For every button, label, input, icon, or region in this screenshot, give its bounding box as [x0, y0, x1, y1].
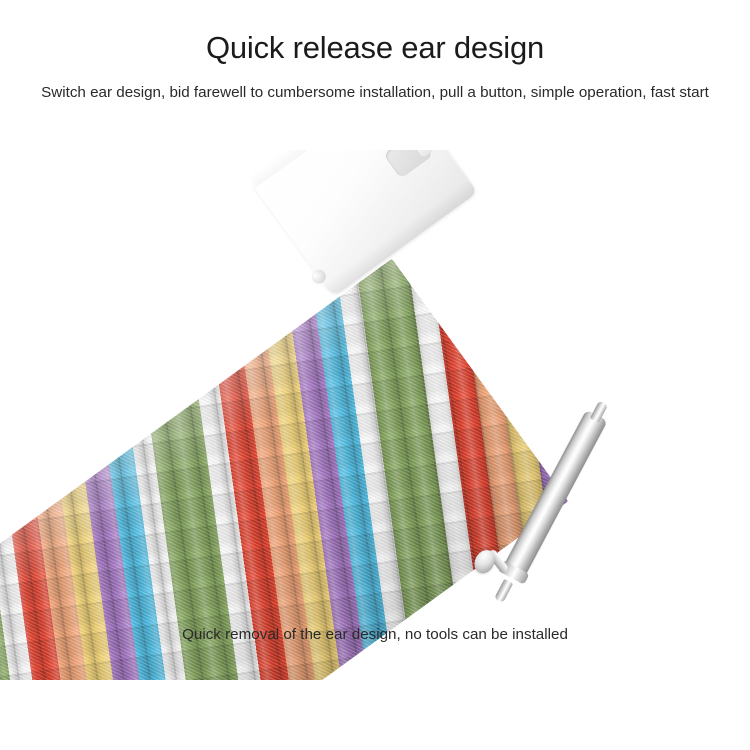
spring-bar-bottom-tip: [494, 579, 513, 603]
braided-band: [0, 259, 568, 680]
photo-caption: Quick removal of the ear design, no tool…: [0, 626, 750, 643]
page-title: Quick release ear design: [0, 30, 750, 66]
spring-bar-top-tip: [590, 401, 608, 423]
quick-release-connector: [250, 150, 477, 297]
thread-grain: [0, 259, 568, 680]
band-weave-surface: [0, 259, 568, 680]
product-image-slide: Quick release ear design Switch ear desi…: [0, 0, 750, 750]
page-subtitle: Switch ear design, bid farewell to cumbe…: [30, 80, 720, 106]
product-photo: [0, 150, 750, 680]
